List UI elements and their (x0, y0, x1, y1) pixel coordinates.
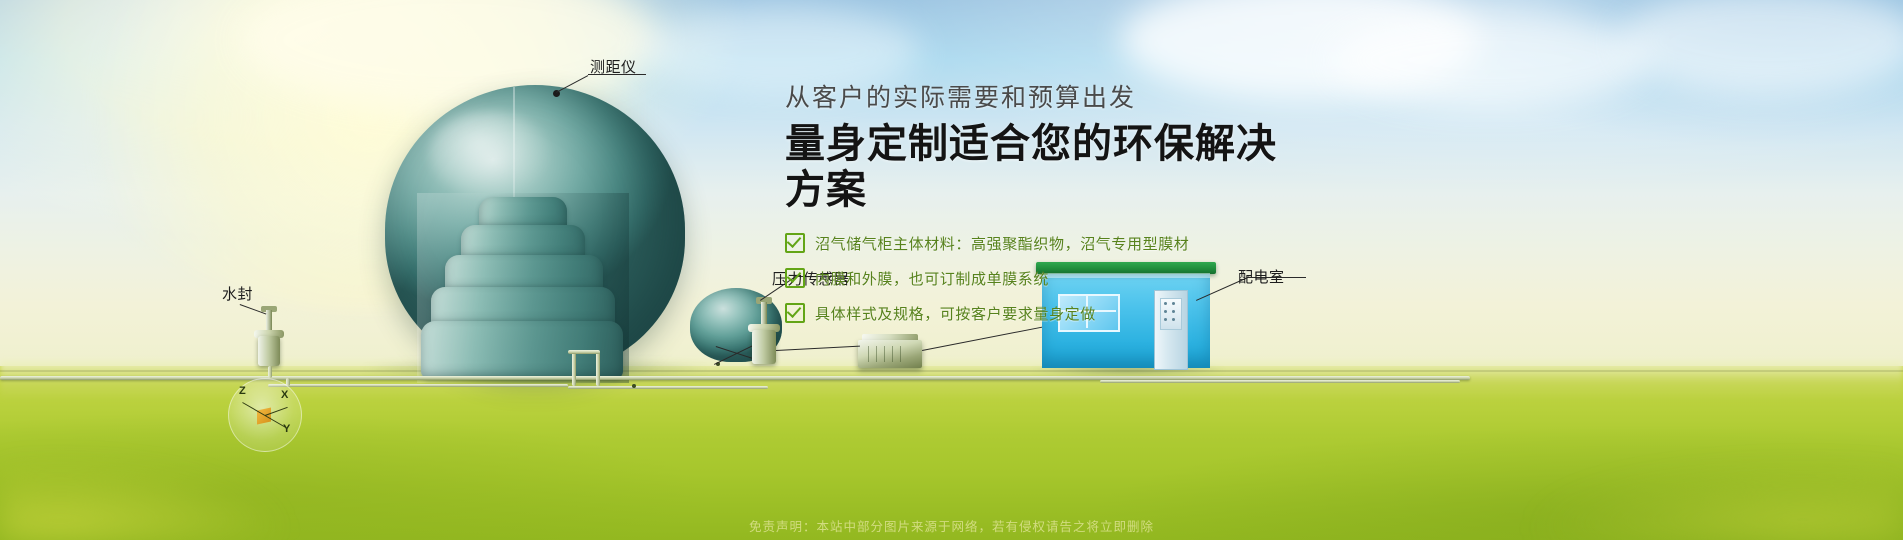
gizmo-label-z: Z (239, 385, 246, 397)
bullet-text: 沼气储气柜主体材料：高强聚酯织物，沼气专用型膜材 (815, 233, 1189, 254)
list-item: 具体样式及规格，可按客户要求量身定做 (785, 303, 1305, 324)
bullet-text: 具体样式及规格，可按客户要求量身定做 (815, 303, 1096, 324)
check-icon (785, 268, 805, 288)
hero-subheadline: 从客户的实际需要和预算出发 (785, 84, 1305, 113)
disclaimer-text: 免责声明：本站中部分图片来源于网络，若有侵权请告之将立即删除 (0, 516, 1903, 535)
skid-grill-line (876, 346, 877, 362)
pipe-riser (572, 352, 576, 386)
pressure-sensor-stem (761, 302, 767, 326)
dome-rim-light (385, 85, 685, 375)
pipe-joint (632, 384, 636, 388)
pipe-branch (568, 386, 768, 389)
gizmo-label-y: Y (283, 423, 290, 435)
list-item: 沼气储气柜主体材料：高强聚酯织物，沼气专用型膜材 (785, 233, 1305, 254)
pipe-tail (1100, 380, 1460, 383)
label-rangefinder: 测距仪 (590, 56, 637, 77)
pressure-sensor-body (752, 330, 776, 364)
horizon-line (0, 370, 1903, 372)
water-seal-stem (266, 310, 272, 332)
pipe-branch (268, 384, 568, 387)
bullet-text: 内膜和外膜，也可订制成单膜系统 (815, 268, 1049, 289)
pipe-cap (568, 350, 600, 354)
water-seal-body (258, 336, 280, 366)
skid-grill-line (892, 346, 893, 362)
check-icon (785, 233, 805, 253)
skid-grill-line (884, 346, 885, 362)
skid-grill-line (900, 346, 901, 362)
check-icon (785, 303, 805, 323)
label-water-seal: 水封 (222, 283, 253, 304)
hero-text-block: 从客户的实际需要和预算出发 量身定制适合您的环保解决方案 沼气储气柜主体材料：高… (785, 84, 1305, 338)
gizmo-label-x: X (281, 389, 288, 401)
hero-banner: 测距仪 水封 压力传感器 (0, 0, 1903, 540)
hero-bullet-list: 沼气储气柜主体材料：高强聚酯织物，沼气专用型膜材 内膜和外膜，也可订制成单膜系统… (785, 233, 1305, 324)
pipe-drop (268, 366, 272, 378)
axis-gizmo: Z X Y (228, 378, 302, 452)
hero-headline: 量身定制适合您的环保解决方案 (785, 121, 1305, 213)
biogas-dome (385, 85, 685, 375)
pipe-riser (596, 352, 600, 386)
cloud (1330, 12, 1650, 108)
list-item: 内膜和外膜，也可订制成单膜系统 (785, 268, 1305, 289)
cloud (640, 6, 920, 96)
skid-grill-line (868, 346, 869, 362)
